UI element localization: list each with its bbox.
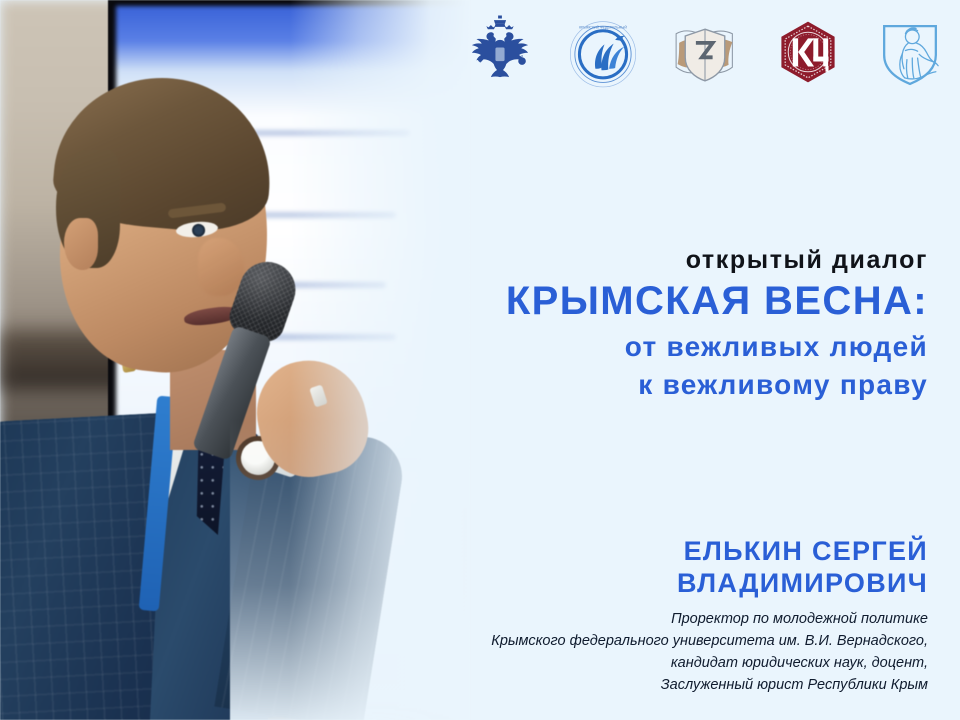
credential-line: Крымского федерального университета им. …: [408, 630, 928, 652]
credential-line: Заслуженный юрист Республики Крым: [408, 674, 928, 696]
ear: [64, 218, 98, 270]
iris: [192, 223, 206, 237]
speaker-photograph: [0, 0, 470, 720]
svg-text:КРЫМСКИЙ ФЕДЕРАЛЬНЫЙ: КРЫМСКИЙ ФЕДЕРАЛЬНЫЙ: [579, 25, 627, 29]
speaker-name-line-2: ВЛАДИМИРОВИЧ: [408, 568, 928, 599]
title-block: открытый диалог КРЫМСКАЯ ВЕСНА: от вежли…: [408, 246, 928, 405]
hexagon-kc-logo: [770, 14, 846, 90]
title-subline-2: к вежливому праву: [408, 366, 928, 405]
shield-map-z-logo: [667, 14, 743, 90]
circular-bird-emblem-logo: КРЫМСКИЙ ФЕДЕРАЛЬНЫЙ: [565, 14, 641, 90]
nose: [198, 238, 244, 296]
credential-line: кандидат юридических наук, доцент,: [408, 652, 928, 674]
title-main: КРЫМСКАЯ ВЕСНА:: [408, 278, 928, 325]
title-subline-1: от вежливых людей: [408, 328, 928, 367]
speaker-credentials: Проректор по молодежной политике Крымско…: [408, 608, 928, 696]
presentation-poster: КРЫМСКИЙ ФЕДЕРАЛЬНЫЙ: [0, 0, 960, 720]
logo-bar: КРЫМСКИЙ ФЕДЕРАЛЬНЫЙ: [462, 14, 948, 90]
speaker-block: ЕЛЬКИН СЕРГЕЙ ВЛАДИМИРОВИЧ Проректор по …: [408, 536, 928, 696]
credential-line: Проректор по молодежной политике: [408, 608, 928, 630]
russian-coat-of-arms-logo: [462, 14, 538, 90]
title-kicker: открытый диалог: [408, 246, 928, 276]
speaker-name-line-1: ЕЛЬКИН СЕРГЕЙ: [408, 536, 928, 567]
shield-classical-figure-logo: [872, 14, 948, 90]
